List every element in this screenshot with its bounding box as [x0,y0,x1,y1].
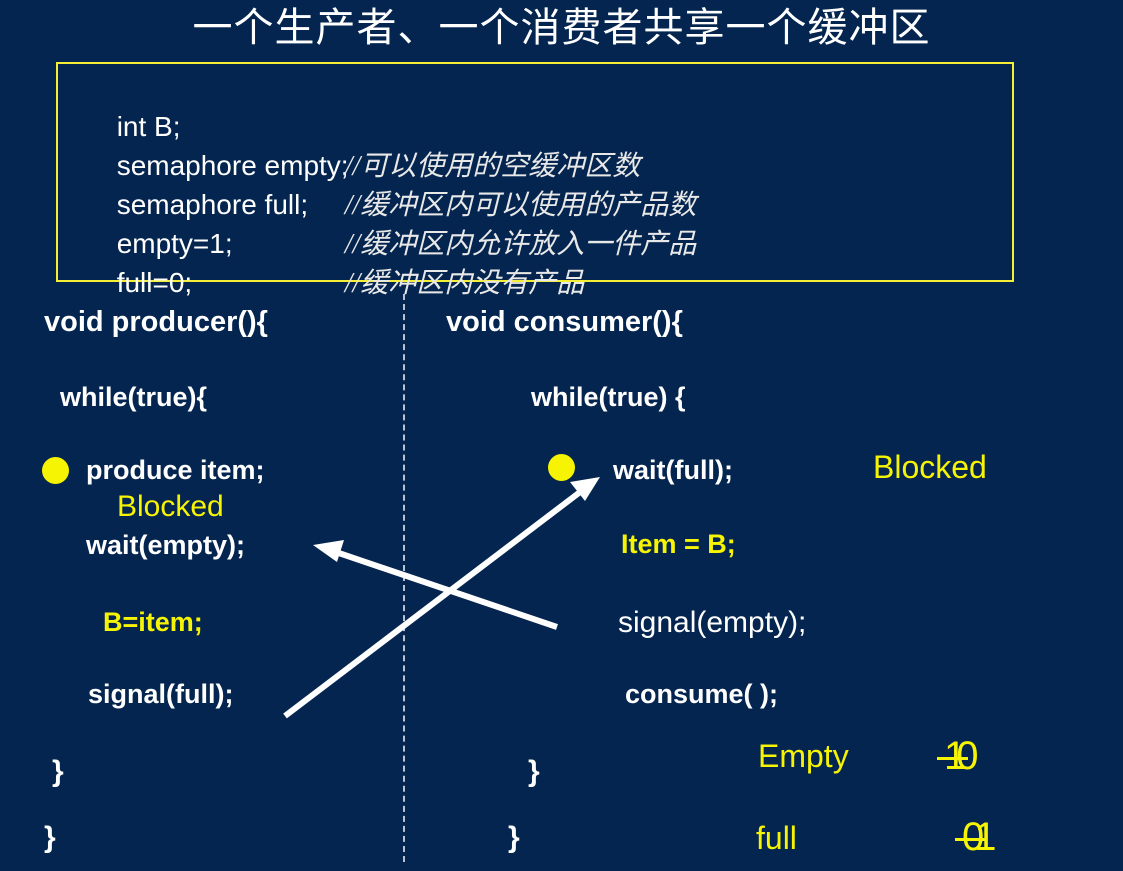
consumer-line-while: while(true) { [531,382,686,412]
producer-line-wait-empty: wait(empty); [86,530,245,560]
consumer-line-item-assign: Item = B; [621,529,736,559]
page-title: 一个生产者、一个消费者共享一个缓冲区 [0,4,1123,52]
semaphore-value-full: 01 [962,817,997,857]
consumer-header: void consumer(){ [446,307,683,337]
producer-line-produce: produce item; [86,455,265,485]
producer-blocked-label: Blocked [117,492,224,522]
semaphore-full-old-value: 0 [962,817,984,857]
declaration-box: int B; semaphore empty;//可以使用的空缓冲区数 sema… [56,62,1014,282]
arrow-producer-to-consumer-icon [285,477,600,716]
semaphore-empty-old-value: 1 [944,736,966,776]
consumer-close-brace-inner: } [528,757,540,787]
producer-line-signal-full: signal(full); [88,679,233,709]
decl-comment-4: //缓冲区内没有产品 [345,269,585,299]
producer-close-brace-outer: } [44,823,56,853]
producer-close-brace-inner: } [52,757,64,787]
consumer-signal-empty-text: signal(empty); [618,606,806,639]
semaphore-label-empty: Empty [758,741,849,771]
arrow-consumer-to-producer-icon [313,540,557,627]
column-divider [403,294,405,862]
semaphore-label-full: full [756,823,797,853]
slide-canvas: 一个生产者、一个消费者共享一个缓冲区 int B; semaphore empt… [0,0,1123,871]
consumer-line-consume: consume( ); [625,679,778,709]
producer-marker-dot [42,457,69,484]
consumer-line-wait-full: wait(full); [613,455,733,485]
producer-line-while: while(true){ [60,382,207,412]
consumer-close-brace-outer: } [508,823,520,853]
producer-header: void producer(){ [44,307,268,337]
consumer-blocked-label: Blocked [873,452,987,482]
decl-code-4: full=0; [117,268,345,298]
semaphore-value-empty: 10 [944,736,979,776]
consumer-line-signal-empty: signal(empty); [618,608,806,638]
consumer-marker-dot [548,454,575,481]
producer-line-b-assign: B=item; [103,607,203,637]
